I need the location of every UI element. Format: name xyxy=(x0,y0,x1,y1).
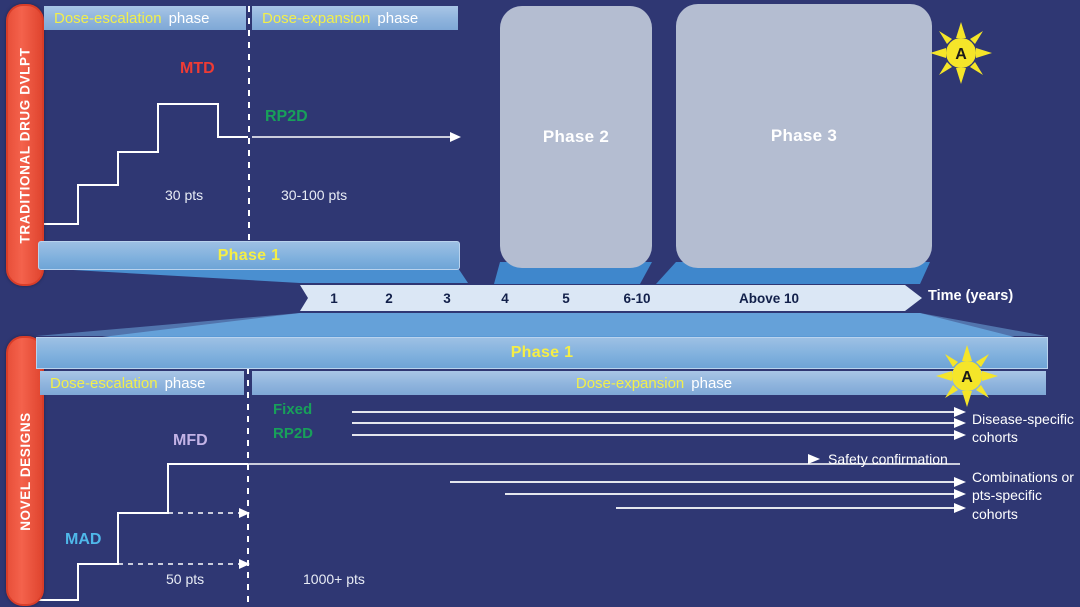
tick-2: 2 xyxy=(360,285,418,311)
top-phase1-ribbon: Phase 1 xyxy=(38,241,460,270)
phase-3-box: Phase 3 xyxy=(676,4,932,268)
time-axis[interactable]: 1 2 3 4 5 6-10 Above 10 xyxy=(300,285,920,311)
bottom-dose-expansion-label: Dose-expansion xyxy=(576,375,684,392)
bottom-phase1-ribbon: Phase 1 xyxy=(36,337,1048,369)
approval-sun-icon-bottom: A xyxy=(936,345,998,407)
time-axis-label: Time (years) xyxy=(928,288,1013,304)
top-escalation-pts: 30 pts xyxy=(165,187,203,203)
phase-2-box: Phase 2 xyxy=(500,6,652,268)
tick-4: 4 xyxy=(476,285,534,311)
approval-letter-top: A xyxy=(955,46,967,63)
tick-3: 3 xyxy=(418,285,476,311)
disease-specific-cohorts-line2: cohorts xyxy=(972,429,1018,446)
safety-confirmation-label: Safety confirmation xyxy=(828,451,948,468)
dose-escalation-steps-top xyxy=(38,104,248,224)
phase-2-label: Phase 2 xyxy=(543,127,609,147)
top-dose-escalation-suffix: phase xyxy=(169,10,210,27)
phase1-top-funnel xyxy=(38,268,468,283)
bottom-expansion-pts: 1000+ pts xyxy=(303,571,365,587)
bottom-dose-escalation-bar: Dose-escalation phase xyxy=(40,371,244,395)
fixed-label: Fixed xyxy=(273,401,312,418)
top-dose-expansion-label: Dose-expansion xyxy=(262,10,370,27)
approval-letter-bottom: A xyxy=(961,369,973,386)
tick-5: 5 xyxy=(534,285,598,311)
top-dose-escalation-label: Dose-escalation xyxy=(54,10,162,27)
disease-specific-arrows xyxy=(352,407,966,440)
top-dose-expansion-suffix: phase xyxy=(377,10,418,27)
top-phase1-label: Phase 1 xyxy=(218,247,281,265)
bottom-dose-expansion-suffix: phase xyxy=(691,375,732,392)
top-dose-expansion-bar: Dose-expansion phase xyxy=(252,6,458,30)
bottom-phase1-label: Phase 1 xyxy=(511,344,574,362)
bottom-dose-escalation-label: Dose-escalation xyxy=(50,375,158,392)
tick-1: 1 xyxy=(308,285,360,311)
bottom-dose-escalation-suffix: phase xyxy=(165,375,206,392)
diagram-canvas: TRADITIONAL DRUG DVLPT NOVEL DESIGNS Dos… xyxy=(0,0,1080,607)
rp2d-arrow-head xyxy=(450,132,461,142)
mad-label: MAD xyxy=(65,531,101,549)
tick-above-10: Above 10 xyxy=(694,285,844,311)
phase1-bottom-funnel-hi xyxy=(36,313,1046,336)
safety-confirmation-arrow xyxy=(808,454,820,464)
combination-cohort-arrows xyxy=(450,477,966,513)
combination-cohorts-line3: cohorts xyxy=(972,506,1018,523)
bottom-escalation-pts: 50 pts xyxy=(166,571,204,587)
bottom-dose-expansion-bar: Dose-expansion phase xyxy=(252,371,1046,395)
rp2d-bottom-label: RP2D xyxy=(273,425,313,442)
combination-cohorts-line2: pts-specific xyxy=(972,487,1042,504)
top-expansion-pts: 30-100 pts xyxy=(281,187,347,203)
mtd-label: MTD xyxy=(180,60,215,78)
mfd-label: MFD xyxy=(173,432,208,450)
rail-top-label: TRADITIONAL DRUG DVLPT xyxy=(18,47,33,243)
rp2d-label: RP2D xyxy=(265,108,308,126)
rail-novel-designs: NOVEL DESIGNS xyxy=(6,336,44,606)
tick-6-10: 6-10 xyxy=(598,285,676,311)
disease-specific-cohorts-line1: Disease-specific xyxy=(972,411,1074,428)
phase-3-label: Phase 3 xyxy=(771,126,837,146)
combination-cohorts-line1: Combinations or xyxy=(972,469,1074,486)
approval-sun-icon-top: A xyxy=(930,22,992,84)
rail-bottom-label: NOVEL DESIGNS xyxy=(18,412,33,531)
top-dose-escalation-bar: Dose-escalation phase xyxy=(44,6,246,30)
